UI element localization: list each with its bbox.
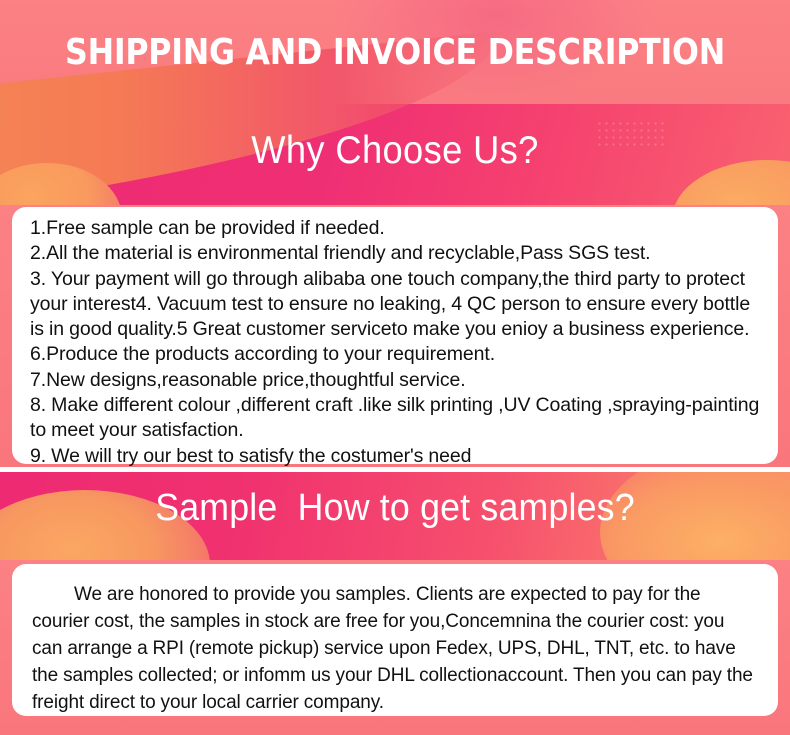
why-choose-us-list: 1.Free sample can be provided if needed.…: [30, 216, 760, 469]
header-banner-shipping: [0, 0, 790, 205]
sample-paragraph: We are honored to provide you samples. C…: [32, 581, 756, 716]
page-title: SHIPPING AND INVOICE DESCRIPTION: [47, 32, 742, 73]
sample-heading: Sample How to get samples?: [24, 487, 767, 530]
why-choose-us-heading: Why Choose Us?: [28, 129, 763, 173]
shipping-invoice-description-page: SHIPPING AND INVOICE DESCRIPTION Why Cho…: [0, 0, 790, 735]
why-choose-us-card: 1.Free sample can be provided if needed.…: [12, 207, 778, 464]
sample-banner: Sample How to get samples?: [0, 472, 790, 560]
sample-info-card: We are honored to provide you samples. C…: [12, 564, 778, 716]
